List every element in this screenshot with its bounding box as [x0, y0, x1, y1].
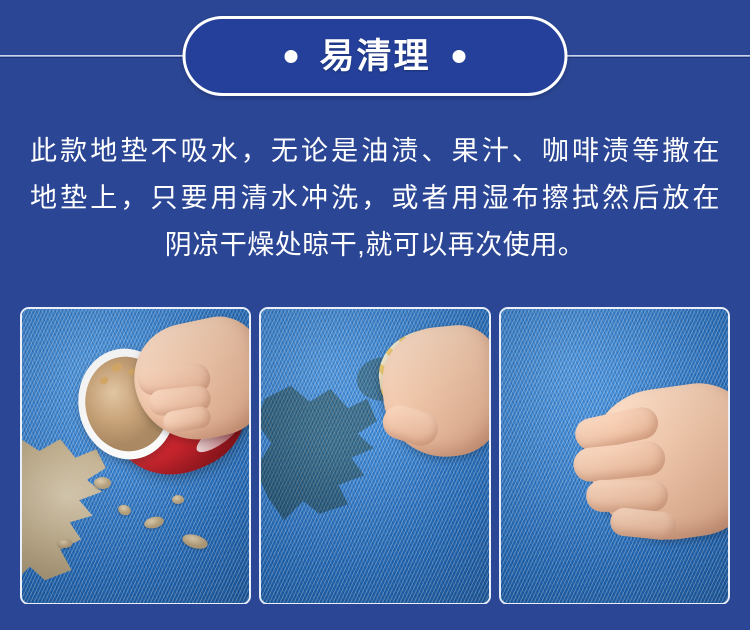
panel-vignette [22, 309, 249, 603]
page-title: 易清理 [319, 39, 430, 74]
footer-spacer [0, 604, 750, 630]
description-line-1: 此款地垫不吸水，无论是油渍、果汁、咖啡渍等撒在 [30, 128, 720, 175]
gallery-panel-wipe-approach [259, 307, 490, 605]
header-banner: 易清理 [0, 0, 750, 98]
header-rule-right [540, 55, 750, 58]
description-line-2: 地垫上，只要用清水冲洗，或者用湿布擦拭然后放在 [30, 175, 720, 222]
bullet-dot-left-icon [284, 50, 297, 63]
gallery-panel-wipe-clean [499, 307, 730, 605]
panel-vignette [261, 309, 488, 603]
title-badge: 易清理 [183, 16, 568, 96]
description-line-3: 阴凉干燥处晾干,就可以再次使用。 [30, 222, 720, 269]
description-paragraph: 此款地垫不吸水，无论是油渍、果汁、咖啡渍等撒在 地垫上，只要用清水冲洗，或者用湿… [30, 128, 720, 269]
header-rule-left [0, 55, 210, 58]
image-gallery [20, 307, 730, 605]
gallery-panel-spill [20, 307, 251, 605]
panel-vignette [501, 309, 728, 603]
bullet-dot-right-icon [453, 50, 466, 63]
